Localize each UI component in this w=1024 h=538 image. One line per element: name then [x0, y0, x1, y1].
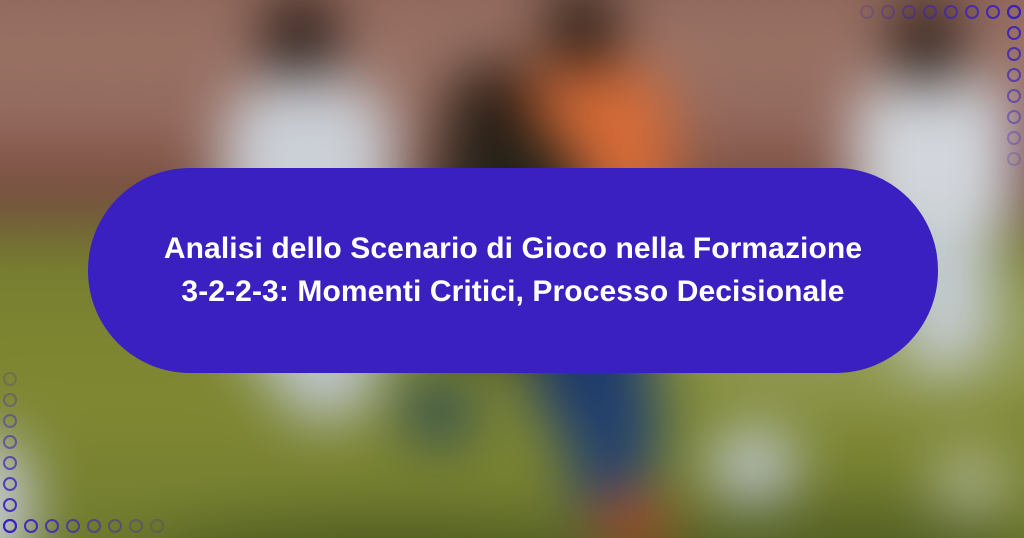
decorative-dot — [1007, 131, 1021, 145]
decorative-dot — [3, 477, 17, 491]
decorative-dot — [1007, 5, 1021, 19]
decorative-dot — [944, 5, 958, 19]
decorative-dot — [986, 5, 1000, 19]
decorative-dot — [1007, 152, 1021, 166]
decorative-dot — [3, 372, 17, 386]
decorative-dot — [129, 519, 143, 533]
decorative-dot — [902, 5, 916, 19]
title-card: Analisi dello Scenario di Gioco nella Fo… — [88, 168, 938, 373]
decorative-dot — [3, 456, 17, 470]
decorative-dot — [3, 519, 17, 533]
page-title-line: Analisi dello Scenario di Gioco nella Fo… — [164, 232, 862, 265]
decorative-dot — [66, 519, 80, 533]
page-title-line: 3-2-2-3: Momenti Critici, Processo Decis… — [181, 275, 844, 308]
decorative-dot — [860, 5, 874, 19]
decorative-dot — [3, 414, 17, 428]
decorative-dot — [1007, 47, 1021, 61]
decorative-dot — [1007, 89, 1021, 103]
slide-canvas: Analisi dello Scenario di Gioco nella Fo… — [0, 0, 1024, 538]
decorative-dots-left-column — [3, 372, 17, 533]
decorative-dot — [923, 5, 937, 19]
decorative-dot — [1007, 110, 1021, 124]
decorative-dot — [45, 519, 59, 533]
decorative-dot — [3, 498, 17, 512]
decorative-dot — [1007, 68, 1021, 82]
decorative-dot — [1007, 26, 1021, 40]
decorative-dot — [87, 519, 101, 533]
decorative-dot — [108, 519, 122, 533]
page-title: Analisi dello Scenario di Gioco nella Fo… — [164, 228, 862, 313]
decorative-dots-right-column — [1007, 5, 1021, 166]
decorative-dots-top-right-row — [860, 5, 1021, 19]
decorative-dot — [150, 519, 164, 533]
decorative-dot — [3, 435, 17, 449]
decorative-dot — [965, 5, 979, 19]
decorative-dot — [3, 393, 17, 407]
decorative-dots-bottom-left-row — [3, 519, 164, 533]
decorative-dot — [24, 519, 38, 533]
decorative-dot — [881, 5, 895, 19]
